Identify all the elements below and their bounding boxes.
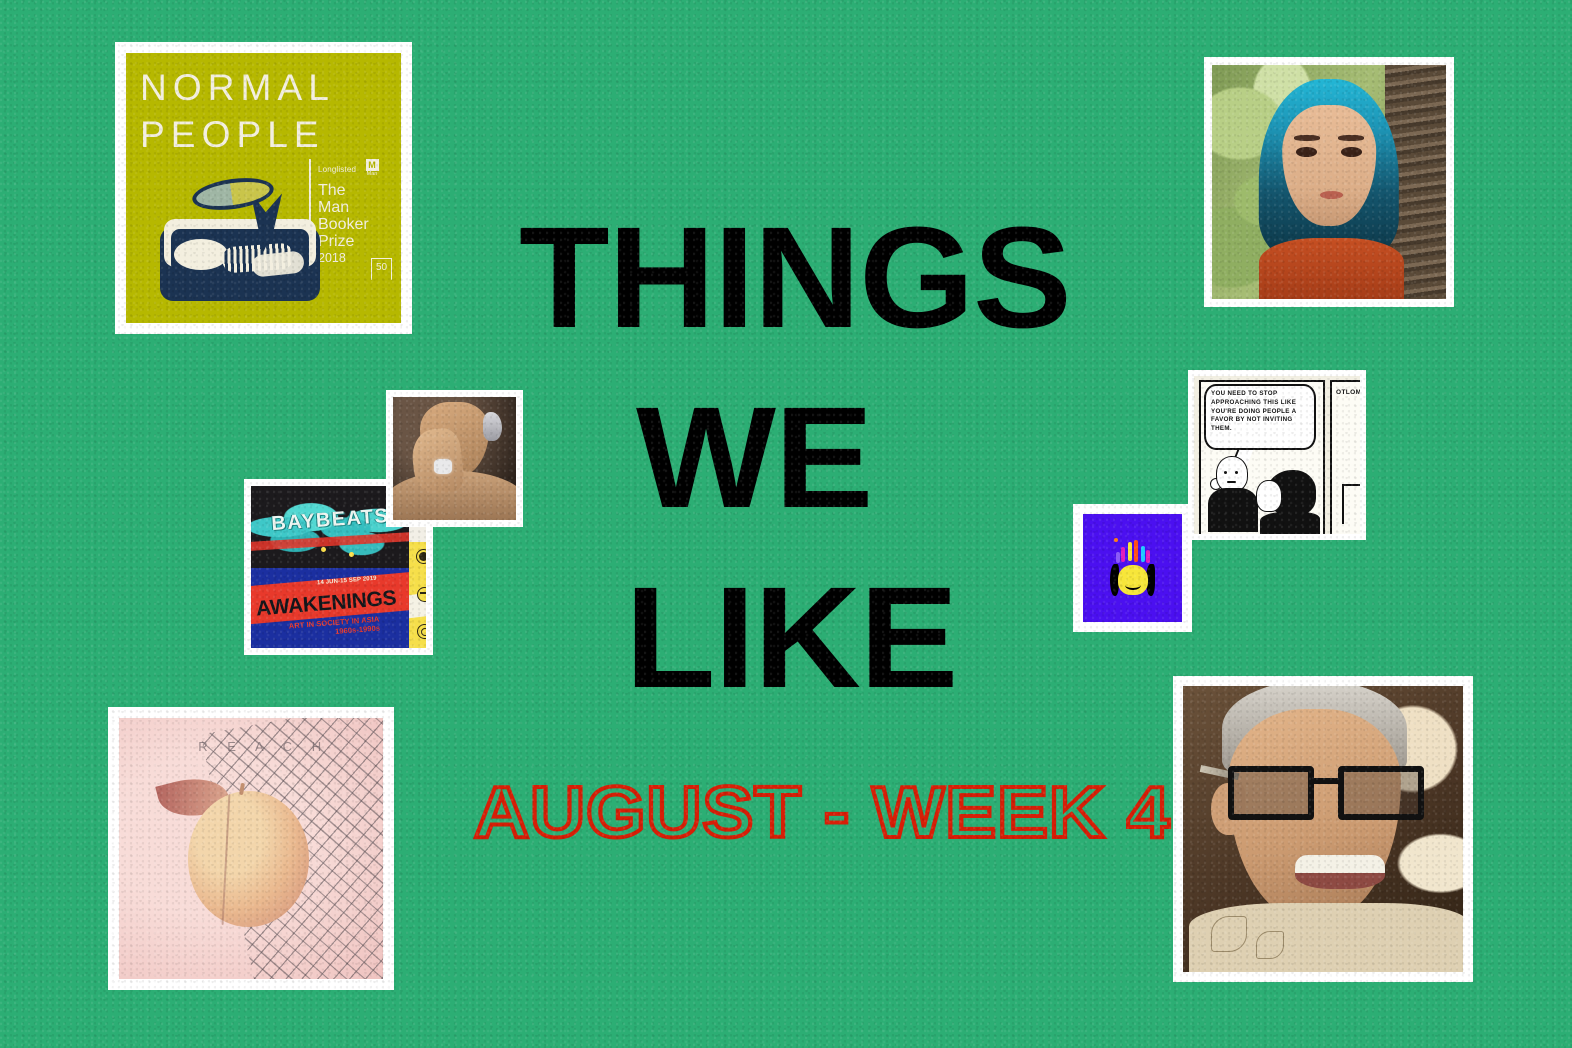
comic-strip[interactable]: YOU NEED TO STOP APPROACHING THIS LIKE Y… [1188,370,1366,540]
flower-3 [1134,540,1138,562]
right-hair [1146,564,1155,596]
shirt-motif-2 [1256,931,1284,959]
flower-4 [1141,546,1145,562]
left-eyebrow [1294,135,1320,141]
comic-panel-2-linework [1342,484,1360,524]
blue-hair-photo [1212,65,1446,299]
normal-people-title-line1: NORMAL [140,64,391,111]
smile-icon [1125,580,1141,590]
tin-highlight [174,239,228,270]
sardine-tin-illustration [160,181,330,301]
man-logo-subtext: Man [366,171,379,178]
figure-mouth [1227,481,1236,483]
shirt-motif-1 [1211,916,1247,952]
yellow-illustration-strip [409,542,426,648]
baybeats-spark-2 [349,552,354,557]
reach-wordmark: R E A C H [198,739,329,754]
floating-dot [1114,538,1118,542]
man-group-logo-icon: M Man [366,159,379,178]
smiling-mouth [1295,855,1385,889]
silver-ring [434,459,452,475]
right-lens [1338,766,1424,820]
hand-on-face-photo [393,397,516,520]
badge-anniversary-ribbon-icon: 50 [371,258,392,280]
flower-5 [1146,550,1150,563]
awakenings-poster: 14 JUN-15 SEP 2019 AWAKENINGS ART IN SOC… [251,568,409,648]
patterned-shirt [1189,903,1463,972]
glasses-man-portrait[interactable] [1173,676,1473,982]
flower-6 [1116,552,1120,563]
left-eye [1296,147,1317,157]
normal-people-artwork: NORMAL PEOPLE Longlisted M Man The Man B… [126,53,401,323]
hand-on-face-portrait[interactable] [386,390,523,527]
figure-right-eye [1235,471,1238,474]
comic-artwork: YOU NEED TO STOP APPROACHING THIS LIKE Y… [1194,376,1360,534]
normal-people-book-cover[interactable]: NORMAL PEOPLE Longlisted M Man The Man B… [115,42,412,334]
yellow-glyph-3 [417,624,426,639]
glasses-man-photo [1183,686,1463,972]
baybeats-spark-1 [321,547,326,552]
page-title-line-2: WE [636,396,872,520]
comic-speech-bubble: YOU NEED TO STOP APPROACHING THIS LIKE Y… [1204,384,1316,450]
peach-reach-album[interactable]: R E A C H [108,707,394,990]
raised-hand [1256,480,1282,512]
figure-shoulder [1260,512,1320,534]
left-lens [1228,766,1314,820]
figure-left-eye [1224,471,1227,474]
teeth [1295,855,1385,873]
purple-flower-head[interactable] [1073,504,1192,632]
figure-body [1208,488,1258,532]
orange-top [1259,238,1404,299]
page-title-line-1: THINGS [519,216,1070,340]
blue-hair-portrait[interactable] [1204,57,1454,307]
comic-figure-listening [1256,470,1318,532]
yellow-glyph-2 [417,587,426,602]
black-glasses-icon [1228,766,1424,820]
right-eye [1341,147,1362,157]
comic-figure-speaking [1208,456,1262,532]
right-eyebrow [1338,135,1364,141]
peach-album-artwork: R E A C H [119,718,383,979]
normal-people-title-line2: PEOPLE [140,111,391,158]
badge-longlisted-label: Longlisted [318,165,356,174]
glasses-bridge [1314,778,1338,784]
comic-panel-2-text: OTLOMRE'I [1336,388,1350,399]
flower-1 [1121,547,1125,562]
page-title-line-3: LIKE [625,576,957,700]
man-logo-mark: M [366,159,379,171]
issue-subtitle: AUGUST - WEEK 4 [474,777,1170,849]
peach-fruit [188,791,309,927]
things-we-like-graphic: NORMAL PEOPLE Longlisted M Man The Man B… [0,0,1572,1048]
flower-2 [1128,542,1132,561]
normal-people-title: NORMAL PEOPLE [140,64,391,159]
yellow-glyph-1 [416,549,426,564]
figure-head [1216,456,1248,492]
purple-artwork [1083,514,1182,622]
